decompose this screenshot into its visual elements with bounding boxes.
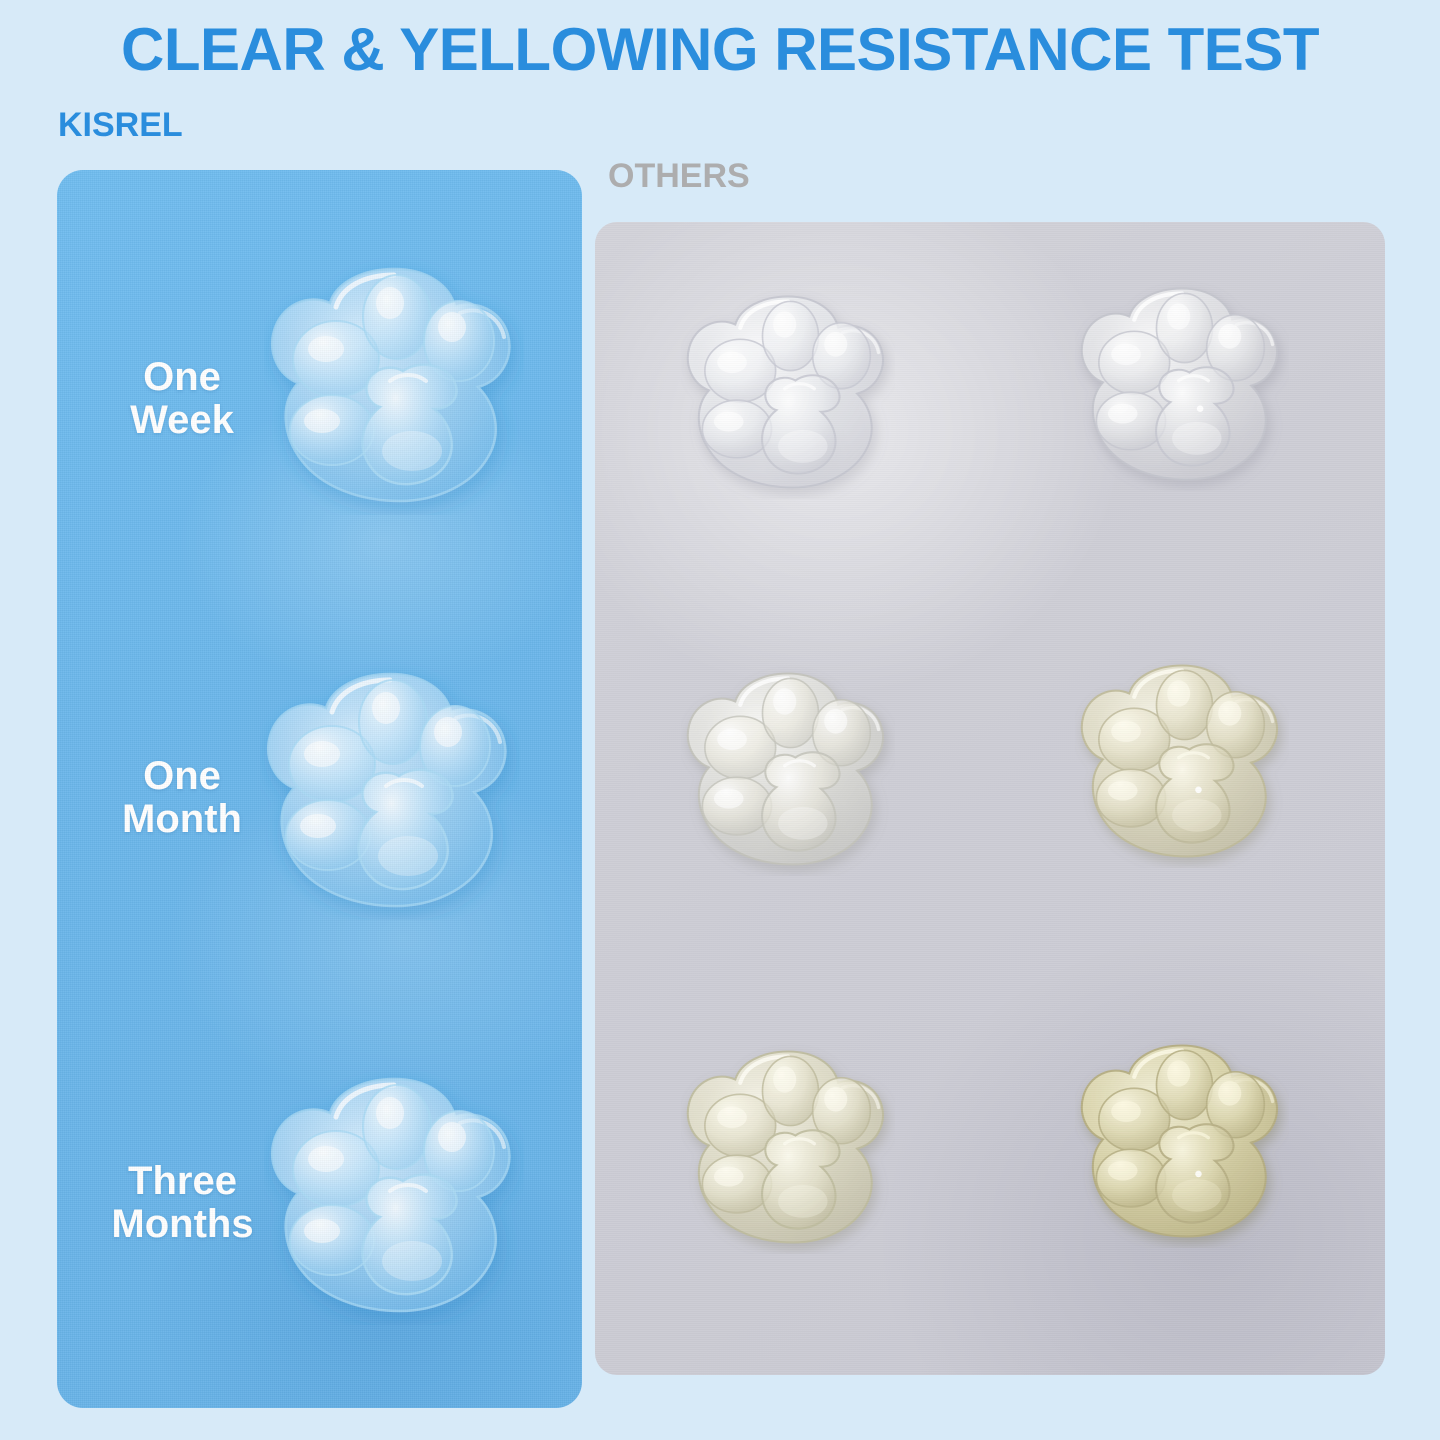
others-paw-sample-r3c1: [681, 1040, 895, 1254]
others-paw-sample-r1c1: [681, 285, 895, 499]
others-panel: [595, 222, 1385, 1375]
others-paw-sample-r1c2: [1075, 277, 1289, 491]
time-label-one-week: One Week: [87, 356, 277, 442]
kisrel-paw-sample-one-month: [260, 660, 520, 920]
page-title: CLEAR & YELLOWING RESISTANCE TEST: [0, 18, 1440, 83]
time-label-three-months: Three Months: [75, 1160, 290, 1246]
kisrel-paw-sample-three-months: [264, 1065, 524, 1325]
kisrel-column-label: KISREL: [58, 106, 183, 145]
others-column-label: OTHERS: [608, 157, 750, 196]
time-label-one-month: One Month: [87, 755, 277, 841]
others-paw-sample-r2c2: [1075, 654, 1289, 868]
others-paw-sample-r3c2: [1075, 1034, 1289, 1248]
kisrel-paw-sample-one-week: [264, 255, 524, 515]
kisrel-panel: One Week One Month Three Months: [57, 170, 582, 1408]
others-paw-sample-r2c1: [681, 662, 895, 876]
